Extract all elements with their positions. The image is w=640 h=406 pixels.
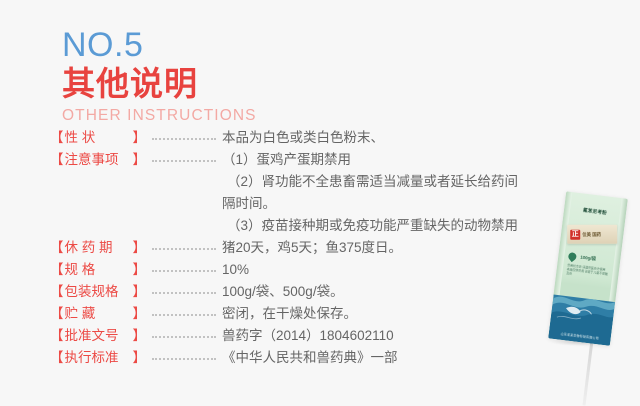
spec-row: 【 批准文号 】 兽药字（2014）1804602110: [50, 325, 550, 347]
bracket-open: 【: [50, 237, 64, 259]
spec-label: 【 休 药 期 】: [50, 237, 146, 259]
spec-label-text: 批准文号: [64, 325, 133, 347]
package-front: 氟苯尼考粉 正 位美 国药 100g/袋 兽用处方药 请遵兽医处方使用 本品仅供…: [548, 191, 628, 345]
package-brand-band: 正 位美 国药: [567, 225, 617, 244]
package-fineprint: 兽用处方药 请遵兽医处方使用 本品仅供兽用 请置于儿童不易触及处: [566, 263, 609, 280]
page-subtitle: OTHER INSTRUCTIONS: [62, 106, 462, 125]
package-weight-row: 100g/袋: [568, 252, 596, 263]
bracket-close: 】: [133, 347, 147, 369]
dotted-leader: [146, 325, 222, 347]
spec-label-text: 包装规格: [64, 281, 133, 303]
spec-label: 【 贮 藏 】: [50, 303, 146, 325]
spec-label-inner: 休 药 期: [65, 237, 113, 259]
dotted-leader: [146, 281, 222, 303]
spec-row: 【 规 格 】 10%: [50, 259, 550, 281]
dotted-leader: [146, 259, 222, 281]
bracket-open: 【: [50, 281, 64, 303]
spec-label-text: 休 药 期: [64, 237, 133, 259]
bracket-open: 【: [50, 325, 64, 347]
spec-row: 【 执行标准 】 《中华人民共和兽药典》一部: [50, 347, 550, 369]
spec-value: 密闭，在干燥处保存。: [222, 303, 550, 325]
dotted-leader: [146, 237, 222, 259]
spec-row: 【 包装规格 】 100g/袋、500g/袋。: [50, 281, 550, 303]
spec-label: 【 规 格 】: [50, 259, 146, 281]
spec-label-text: 注意事项: [64, 149, 133, 171]
spec-value: 兽药字（2014）1804602110: [222, 325, 550, 347]
spec-extra-line: 隔时间。: [50, 193, 550, 215]
bracket-close: 】: [133, 149, 147, 171]
page-title: 其他说明: [62, 65, 462, 103]
bracket-close: 】: [133, 303, 147, 325]
bracket-close: 】: [133, 237, 147, 259]
spec-label-inner: 执行标准: [65, 347, 119, 369]
spec-label: 【 注意事项 】: [50, 149, 146, 171]
droplet-icon: [567, 251, 578, 262]
spec-label-inner: 性 状: [65, 127, 96, 149]
section-number: NO.5: [62, 26, 462, 64]
bracket-open: 【: [50, 259, 64, 281]
spec-label-text: 规 格: [64, 259, 133, 281]
spec-label-inner: 贮 藏: [65, 303, 96, 325]
spec-label-inner: 批准文号: [65, 325, 119, 347]
spec-label-text: 性 状: [64, 127, 133, 149]
bracket-close: 】: [133, 281, 147, 303]
spec-label: 【 性 状 】: [50, 127, 146, 149]
spec-value: 100g/袋、500g/袋。: [222, 281, 550, 303]
product-package-image: 氟苯尼考粉 正 位美 国药 100g/袋 兽用处方药 请遵兽医处方使用 本品仅供…: [520, 188, 640, 403]
package-product-name: 氟苯尼考粉: [573, 206, 617, 217]
spec-row: 【 注意事项 】 （1）蛋鸡产蛋期禁用: [50, 149, 550, 171]
spec-value: 10%: [222, 259, 550, 281]
bracket-open: 【: [50, 303, 64, 325]
bracket-close: 】: [133, 259, 147, 281]
dotted-leader: [146, 303, 222, 325]
spec-extra-line: （2）肾功能不全患畜需适当减量或者延长给药间: [50, 171, 550, 193]
spec-extra-line: （3）疫苗接种期或免疫功能严重缺失的动物禁用: [50, 215, 550, 237]
bracket-close: 】: [133, 325, 147, 347]
spec-value: 本品为白色或类白色粉末、: [222, 127, 550, 149]
spec-value: 《中华人民共和兽药典》一部: [222, 347, 550, 369]
spec-value: （1）蛋鸡产蛋期禁用: [222, 149, 550, 171]
dotted-leader: [146, 149, 222, 171]
spec-row: 【 休 药 期 】 猪20天，鸡5天；鱼375度日。: [50, 237, 550, 259]
bracket-open: 【: [50, 347, 64, 369]
spec-label: 【 批准文号 】: [50, 325, 146, 347]
bracket-open: 【: [50, 127, 64, 149]
package-brand-text: 位美 国药: [582, 232, 601, 237]
package-weight-text: 100g/袋: [580, 255, 596, 263]
spec-label: 【 包装规格 】: [50, 281, 146, 303]
spec-label-inner: 规 格: [65, 259, 96, 281]
page-header: NO.5 其他说明 OTHER INSTRUCTIONS: [62, 26, 462, 125]
spec-label-text: 贮 藏: [64, 303, 133, 325]
spec-label-inner: 包装规格: [65, 281, 119, 303]
dotted-leader: [146, 127, 222, 149]
spec-value: 猪20天，鸡5天；鱼375度日。: [222, 237, 550, 259]
spec-row: 【 性 状 】 本品为白色或类白色粉末、: [50, 127, 550, 149]
dotted-leader: [146, 347, 222, 369]
bracket-close: 】: [133, 127, 147, 149]
spec-label: 【 执行标准 】: [50, 347, 146, 369]
spec-row: 【 贮 藏 】 密闭，在干燥处保存。: [50, 303, 550, 325]
spec-label-inner: 注意事项: [65, 149, 119, 171]
spec-list: 【 性 状 】 本品为白色或类白色粉末、 【 注意事项 】 （1）蛋鸡产蛋期禁用…: [50, 127, 550, 369]
bracket-open: 【: [50, 149, 64, 171]
spec-label-text: 执行标准: [64, 347, 133, 369]
product-instructions-page: NO.5 其他说明 OTHER INSTRUCTIONS 【 性 状 】 本品为…: [0, 0, 640, 403]
seal-icon: 正: [570, 229, 580, 239]
